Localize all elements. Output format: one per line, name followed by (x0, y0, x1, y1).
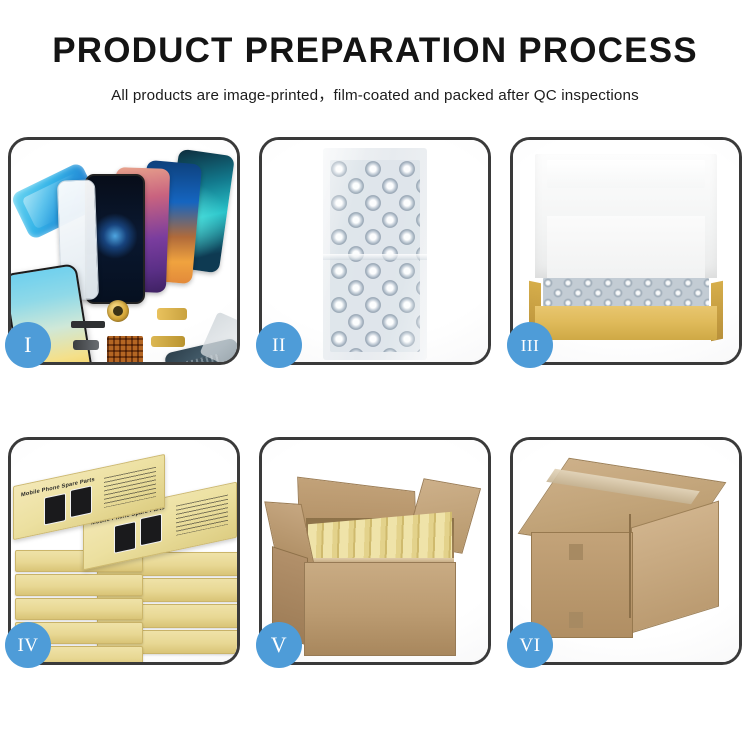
step-card-i[interactable]: I (8, 137, 240, 365)
step-card-iii[interactable]: III (510, 137, 742, 365)
box-screen-image (114, 521, 136, 554)
step-card-iv[interactable]: Mobile Phone Spare Parts Mobile Phone Sp… (8, 437, 240, 665)
open-mailer-box (529, 154, 723, 318)
flex-cable-b-part (151, 336, 185, 347)
page-subtitle: All products are image-printed，film-coat… (0, 70, 750, 105)
earpiece-bar-part (71, 321, 105, 328)
speaker-coil-part (107, 300, 129, 322)
box-spec-text-lines (176, 495, 228, 536)
bubble-wrap-pouch (323, 148, 427, 360)
box-screen-image (70, 485, 92, 518)
page-title: PRODUCT PREPARATION PROCESS (0, 0, 750, 70)
step-card-ii[interactable]: II (259, 137, 491, 365)
carton-vertical-edge (629, 514, 631, 618)
step-badge-vi: VI (507, 622, 553, 668)
header: PRODUCT PREPARATION PROCESS All products… (0, 0, 750, 105)
flex-cable-c-part (73, 340, 99, 350)
step-badge-v: V (256, 622, 302, 668)
pouch-gloss-highlight (323, 148, 427, 360)
box-screen-image (140, 514, 162, 547)
copper-mesh-part (107, 336, 143, 362)
step-badge-ii: II (256, 322, 302, 368)
product-preparation-infographic: PRODUCT PREPARATION PROCESS All products… (0, 0, 750, 750)
mailer-front-panel (535, 306, 717, 340)
step-badge-iii: III (507, 322, 553, 368)
tweezers-tool (199, 311, 237, 362)
step-badge-iv: IV (5, 622, 51, 668)
stacked-box (15, 574, 143, 596)
process-steps-grid: I II (8, 137, 742, 665)
box-screen-image (44, 493, 66, 526)
step-badge-i: I (5, 322, 51, 368)
step-card-vi[interactable]: VI (510, 437, 742, 665)
flex-cable-a-part (157, 308, 187, 320)
mailer-foam-liner (547, 216, 705, 286)
carton-hand-hole-lower (569, 612, 583, 628)
stacked-box (15, 598, 143, 620)
box-spec-text-lines (104, 467, 156, 508)
carton-front-panel (304, 562, 456, 656)
carton-hand-hole-upper (569, 544, 583, 560)
step-card-v[interactable]: V (259, 437, 491, 665)
